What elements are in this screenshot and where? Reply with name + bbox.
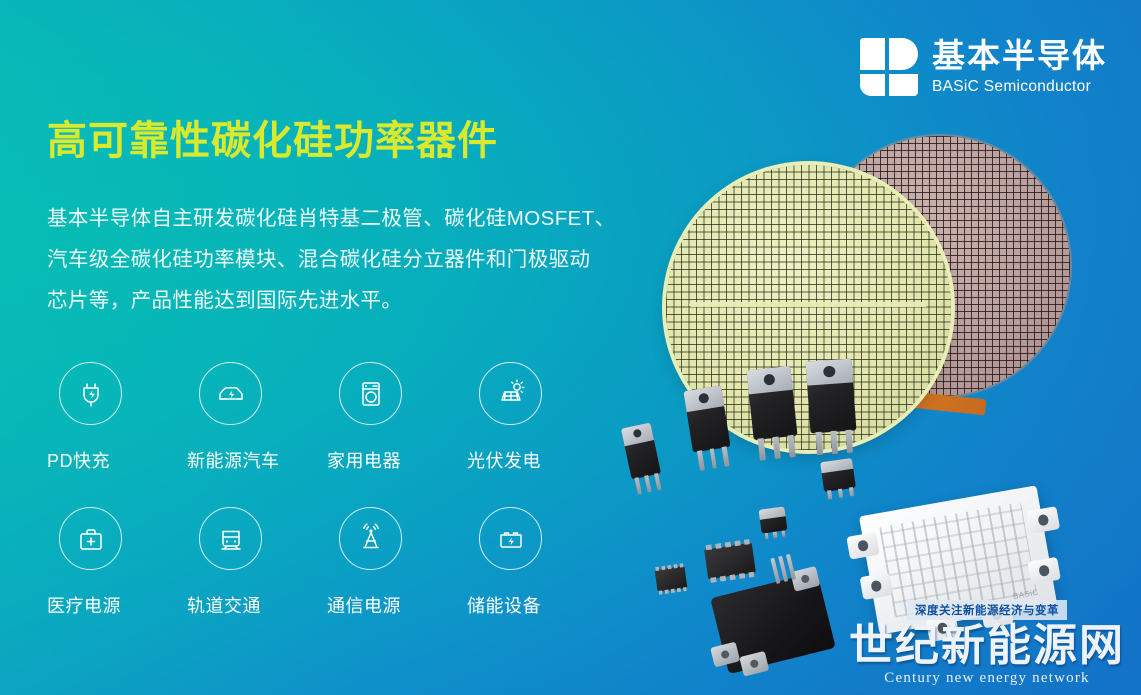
electric-car-icon: [199, 362, 262, 425]
poster-canvas: 基本半导体 BASiC Semiconductor 高可靠性碳化硅功率器件 基本…: [0, 0, 1141, 695]
application-label: 新能源汽车: [187, 447, 280, 473]
application-label: PD快充: [47, 447, 110, 473]
hero-description-line: 基本半导体自主研发碳化硅肖特基二极管、碳化硅MOSFET、: [47, 198, 627, 239]
application-item-rail-transit[interactable]: 轨道交通: [187, 507, 327, 652]
brand-name-en: BASiC Semiconductor: [932, 79, 1107, 95]
train-icon: [199, 507, 262, 570]
watermark-subtitle: Century new energy network: [849, 670, 1125, 687]
brand-name-cn: 基本半导体: [932, 39, 1107, 72]
to247-package: [806, 358, 857, 433]
medical-case-icon: [59, 507, 122, 570]
basic-logo-square-icon: [860, 38, 918, 96]
application-item-energy-storage[interactable]: 储能设备: [467, 507, 607, 652]
hero-description-line: 芯片等，产品性能达到国际先进水平。: [47, 280, 627, 321]
watermark-title: 世纪新能源网: [849, 623, 1125, 669]
application-label: 通信电源: [327, 592, 401, 618]
dpak-package: [820, 458, 856, 492]
application-item-photovoltaic[interactable]: 光伏发电: [467, 362, 607, 507]
application-label: 光伏发电: [467, 447, 541, 473]
application-label: 储能设备: [467, 592, 541, 618]
watermark-tagline: 深度关注新能源经济与变革: [907, 600, 1067, 620]
page-title: 高可靠性碳化硅功率器件: [47, 119, 498, 163]
hero-description-line: 汽车级全碳化硅功率模块、混合碳化硅分立器件和门极驱动: [47, 239, 627, 280]
brand-logo: 基本半导体 BASiC Semiconductor: [860, 38, 1107, 96]
application-item-pd-charging[interactable]: PD快充: [47, 362, 187, 507]
hero-description: 基本半导体自主研发碳化硅肖特基二极管、碳化硅MOSFET、 汽车级全碳化硅功率模…: [47, 198, 627, 321]
site-watermark: 深度关注新能源经济与变革 世纪新能源网 Century new energy n…: [849, 600, 1125, 687]
application-item-new-energy-vehicle[interactable]: 新能源汽车: [187, 362, 327, 507]
application-label: 轨道交通: [187, 592, 261, 618]
soic8-package: [655, 566, 688, 592]
application-label: 医疗电源: [47, 592, 121, 618]
solar-panel-icon: [479, 362, 542, 425]
to220-package: [621, 422, 661, 479]
black-power-module: [710, 572, 836, 674]
dpak-package: [758, 506, 787, 533]
washing-machine-icon: [339, 362, 402, 425]
to247-package: [746, 366, 797, 440]
brand-logo-text: 基本半导体 BASiC Semiconductor: [932, 39, 1107, 95]
application-item-telecom-power[interactable]: 通信电源: [327, 507, 467, 652]
soic16-package: [704, 543, 756, 579]
application-item-medical-power[interactable]: 医疗电源: [47, 507, 187, 652]
application-icon-grid: PD快充 新能源汽车 家用电: [47, 362, 607, 652]
battery-icon: [479, 507, 542, 570]
application-item-home-appliance[interactable]: 家用电器: [327, 362, 467, 507]
antenna-tower-icon: [339, 507, 402, 570]
charging-plug-icon: [59, 362, 122, 425]
product-photo-collage: BASiC BASiC: [600, 120, 1141, 660]
application-label: 家用电器: [327, 447, 401, 473]
